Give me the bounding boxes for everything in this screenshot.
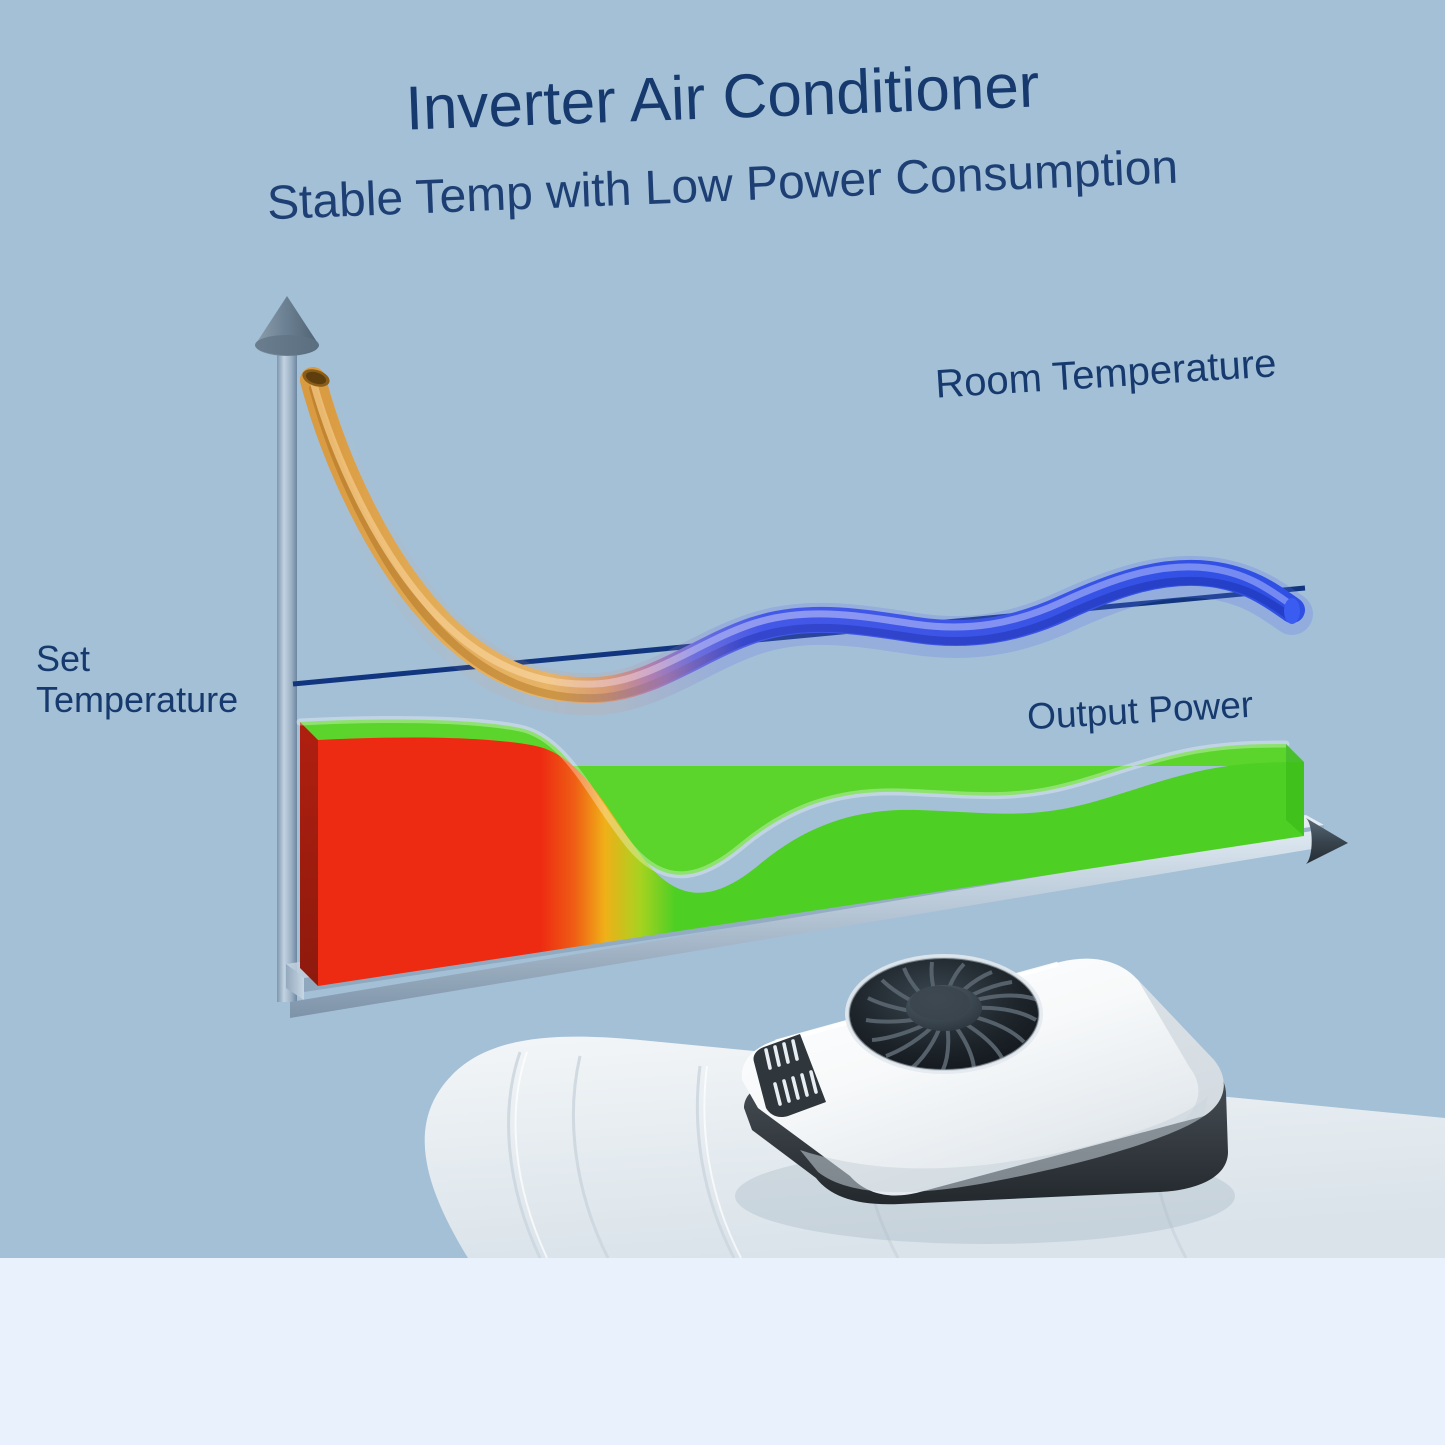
fan-grille-icon	[845, 954, 1043, 1074]
product-illustration	[0, 0, 1445, 1445]
rooftop-ac-unit	[742, 954, 1228, 1204]
product-feature-graphic: Inverter Air Conditioner Stable Temp wit…	[0, 0, 1445, 1445]
feature-banner: ·Smart inverter tech maintains steady co…	[0, 1258, 1445, 1445]
